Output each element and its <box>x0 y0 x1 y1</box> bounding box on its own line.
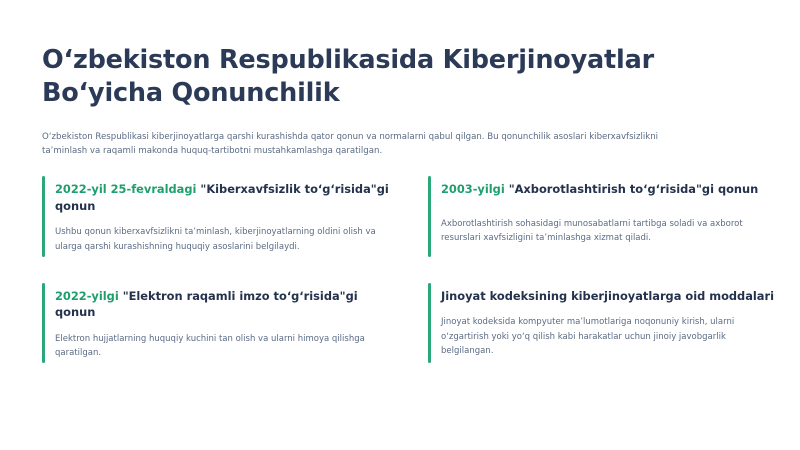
card-heading: Jinoyat kodeksining kiberjinoyatlarga oi… <box>441 288 776 305</box>
law-card-jinoyat-kodeksi: Jinoyat kodeksining kiberjinoyatlarga oi… <box>428 283 794 364</box>
law-card-axborotlashtirish: 2003-yilgi "Axborotlashtirish to‘g‘risid… <box>428 176 794 257</box>
card-body: Axborotlashtirish sohasidagi munosabatla… <box>441 217 771 246</box>
card-accent-bar <box>42 283 45 364</box>
card-heading: 2022-yil 25-fevraldagi "Kiberxavfsizlik … <box>55 181 390 214</box>
card-heading-text: "Axborotlashtirish to‘g‘risida"gi qonun <box>509 182 759 196</box>
card-body: Ushbu qonun kiberxavfsizlikni ta’minlash… <box>55 225 385 254</box>
page-subtitle: O‘zbekiston Respublikasi kiberjinoyatlar… <box>42 131 690 159</box>
law-card-elektron-raqamli-imzo: 2022-yilgi "Elektron raqamli imzo to‘g‘r… <box>42 283 408 364</box>
card-heading-highlight: 2003-yilgi <box>441 182 509 196</box>
slide: O‘zbekiston Respublikasida Kiberjinoyatl… <box>0 0 800 450</box>
law-cards-grid: 2022-yil 25-fevraldagi "Kiberxavfsizlik … <box>42 176 748 363</box>
card-heading: 2003-yilgi "Axborotlashtirish to‘g‘risid… <box>441 181 776 198</box>
card-body: Jinoyat kodeksida kompyuter ma’lumotlari… <box>441 315 767 359</box>
card-accent-bar <box>428 283 431 364</box>
card-heading-text: Jinoyat kodeksining kiberjinoyatlarga oi… <box>441 289 774 303</box>
card-body: Elektron hujjatlarning huquqiy kuchini t… <box>55 332 373 361</box>
card-accent-bar <box>42 176 45 257</box>
card-heading-highlight: 2022-yilgi <box>55 289 123 303</box>
card-heading-highlight: 2022-yil 25-fevraldagi <box>55 182 200 196</box>
law-card-kiberxavfsizlik: 2022-yil 25-fevraldagi "Kiberxavfsizlik … <box>42 176 408 257</box>
card-accent-bar <box>428 176 431 257</box>
card-heading: 2022-yilgi "Elektron raqamli imzo to‘g‘r… <box>55 288 390 321</box>
page-title: O‘zbekiston Respublikasida Kiberjinoyatl… <box>42 44 748 109</box>
